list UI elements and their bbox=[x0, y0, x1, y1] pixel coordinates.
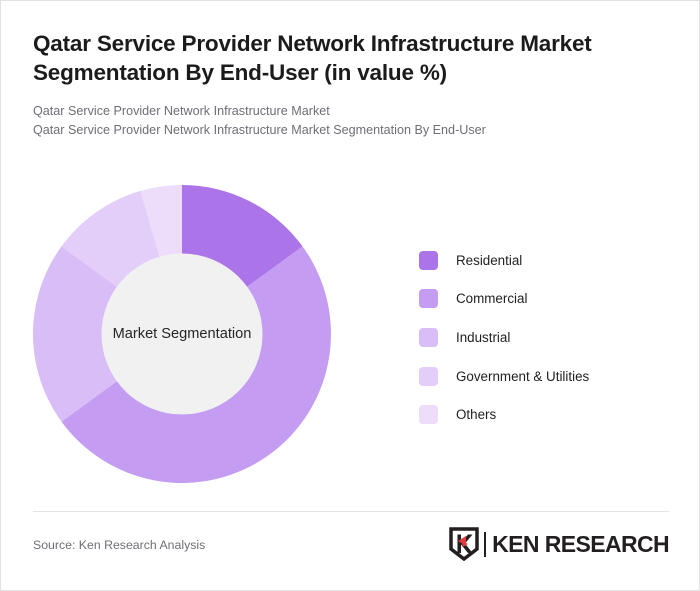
legend-item-label: Commercial bbox=[456, 291, 527, 306]
chart-header: Qatar Service Provider Network Infrastru… bbox=[33, 29, 653, 141]
donut-svg: Residential: 15%Commercial: 50%Industria… bbox=[32, 184, 332, 484]
brand-name: KEN RESEARCH bbox=[492, 531, 669, 558]
legend-item[interactable]: Industrial bbox=[419, 318, 684, 357]
brand-divider bbox=[484, 532, 486, 557]
chart-legend: ResidentialCommercialIndustrialGovernmen… bbox=[419, 241, 684, 434]
legend-item-label: Others bbox=[456, 407, 496, 422]
page-title: Qatar Service Provider Network Infrastru… bbox=[33, 29, 653, 88]
legend-swatch bbox=[419, 328, 438, 347]
legend-item[interactable]: Government & Utilities bbox=[419, 357, 684, 396]
legend-item[interactable]: Commercial bbox=[419, 280, 684, 319]
subtitle-secondary: Qatar Service Provider Network Infrastru… bbox=[33, 121, 653, 141]
brand-k-accent-triangle bbox=[458, 536, 466, 546]
subtitle-block: Qatar Service Provider Network Infrastru… bbox=[33, 102, 653, 141]
legend-swatch bbox=[419, 367, 438, 386]
source-note: Source: Ken Research Analysis bbox=[33, 538, 205, 552]
legend-item[interactable]: Others bbox=[419, 395, 684, 434]
chart-area: Residential: 15%Commercial: 50%Industria… bbox=[1, 161, 700, 506]
chart-card: Qatar Service Provider Network Infrastru… bbox=[0, 0, 700, 591]
donut-hole bbox=[102, 254, 263, 415]
legend-item-label: Government & Utilities bbox=[456, 369, 589, 384]
legend-swatch bbox=[419, 405, 438, 424]
footer-divider bbox=[33, 511, 669, 512]
legend-item[interactable]: Residential bbox=[419, 241, 684, 280]
legend-item-label: Residential bbox=[456, 253, 522, 268]
brand-logo: KEN RESEARCH bbox=[449, 527, 669, 561]
legend-swatch bbox=[419, 251, 438, 270]
legend-swatch bbox=[419, 289, 438, 308]
legend-item-label: Industrial bbox=[456, 330, 510, 345]
subtitle-primary: Qatar Service Provider Network Infrastru… bbox=[33, 102, 653, 122]
donut-chart: Residential: 15%Commercial: 50%Industria… bbox=[32, 184, 332, 484]
